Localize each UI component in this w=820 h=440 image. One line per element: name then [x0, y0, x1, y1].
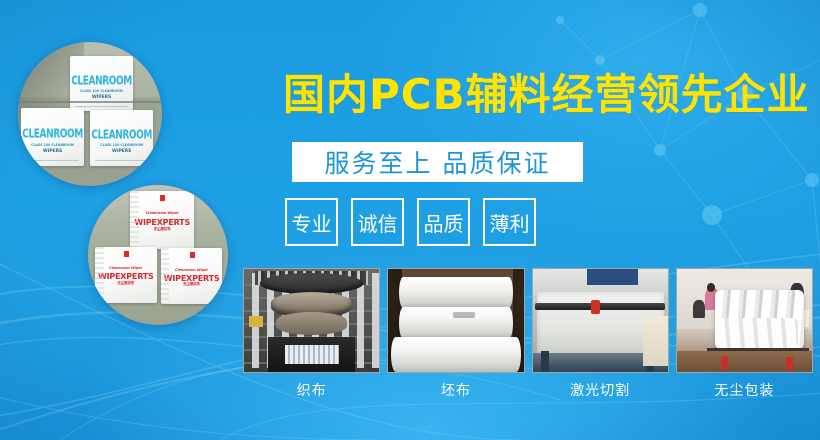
photo-greige-fabric [387, 268, 524, 373]
pack-sub-label-1: Cleanroom Wiper [95, 267, 157, 270]
photo-laser-cutting [532, 268, 669, 373]
subtitle-box: 服务至上 品质保证 [292, 142, 583, 182]
banner-headline: 国内PCB辅料经营领先企业 [283, 74, 810, 116]
wipexperts-scene: Cleanroom Wiper WIPEXPERTS 无尘擦拭布 Cleanro… [88, 185, 228, 325]
fabric-rolls-photo [388, 269, 523, 372]
pack-sub-label-2: WIPERS [90, 150, 153, 154]
pack-sub-label-2: 无尘擦拭布 [130, 228, 194, 231]
pack-sub-label-1: CLASS 100 CLEANROOM [70, 90, 133, 93]
red-stamp-icon [190, 252, 195, 258]
wipe-pack: CLEANROOM CLASS 100 CLEANROOM WIPERS [70, 56, 133, 111]
caption-laser-cutting: 激光切割 [532, 378, 669, 404]
laser-cutting-photo [533, 269, 668, 372]
cleanroom-scene: CLEANROOM CLASS 100 CLEANROOM WIPERS CLE… [18, 42, 162, 186]
red-stamp-icon [124, 251, 129, 257]
process-photo-strip [243, 268, 813, 373]
photo-weaving [243, 268, 380, 373]
pack-brand-label: WIPEXPERTS [130, 219, 194, 227]
wipe-pack: CLEANROOM CLASS 100 CLEANROOM WIPERS [21, 108, 84, 166]
knitting-machine-photo [244, 269, 379, 372]
pack-sub-label-2: 无尘擦拭布 [161, 283, 223, 286]
cleanroom-packing-photo [677, 269, 812, 372]
product-photo-cleanroom-wipes: CLEANROOM CLASS 100 CLEANROOM WIPERS CLE… [18, 42, 162, 186]
pack-brand-label: CLEANROOM [70, 77, 133, 89]
caption-cleanroom-packing: 无尘包装 [676, 378, 813, 404]
badge-pinzhi: 品质 [417, 198, 470, 246]
pack-sub-label-2: 无尘擦拭布 [95, 282, 157, 285]
red-stamp-icon [160, 195, 165, 201]
wipexperts-pack: Cleanroom Wiper WIPEXPERTS 无尘擦拭布 [130, 191, 194, 250]
badge-baoli: 薄利 [483, 198, 536, 246]
pack-sub-label-1: CLASS 100 CLEANROOM [21, 144, 84, 147]
caption-greige-fabric: 坯布 [387, 378, 524, 404]
pack-sub-label-1: Cleanroom Wiper [130, 212, 194, 215]
wipe-pack: CLEANROOM CLASS 100 CLEANROOM WIPERS [90, 110, 153, 166]
photo-cleanroom-packing [676, 268, 813, 373]
caption-weaving: 织布 [243, 378, 380, 404]
product-photo-wipexperts: Cleanroom Wiper WIPEXPERTS 无尘擦拭布 Cleanro… [88, 185, 228, 325]
pack-sub-label-1: CLASS 100 CLEANROOM [90, 144, 153, 147]
badge-chengxin: 诚信 [351, 198, 404, 246]
pack-brand-label: CLEANROOM [90, 131, 153, 143]
feature-badge-list: 专业 诚信 品质 薄利 [285, 198, 536, 246]
wipexperts-pack: Cleanroom Wiper WIPEXPERTS 无尘擦拭布 [161, 248, 223, 304]
wipexperts-pack: Cleanroom Wiper WIPEXPERTS 无尘擦拭布 [95, 247, 157, 303]
pack-brand-label: CLEANROOM [21, 130, 84, 142]
subtitle-text: 服务至上 品质保证 [325, 144, 551, 180]
pack-sub-label-1: Cleanroom Wiper [161, 269, 223, 272]
pack-sub-label-2: WIPERS [70, 96, 133, 100]
photo-caption-row: 织布 坯布 激光切割 无尘包装 [243, 378, 813, 404]
pack-sub-label-2: WIPERS [21, 150, 84, 154]
promo-banner: CLEANROOM CLASS 100 CLEANROOM WIPERS CLE… [0, 0, 820, 440]
badge-zhuanye: 专业 [285, 198, 338, 246]
